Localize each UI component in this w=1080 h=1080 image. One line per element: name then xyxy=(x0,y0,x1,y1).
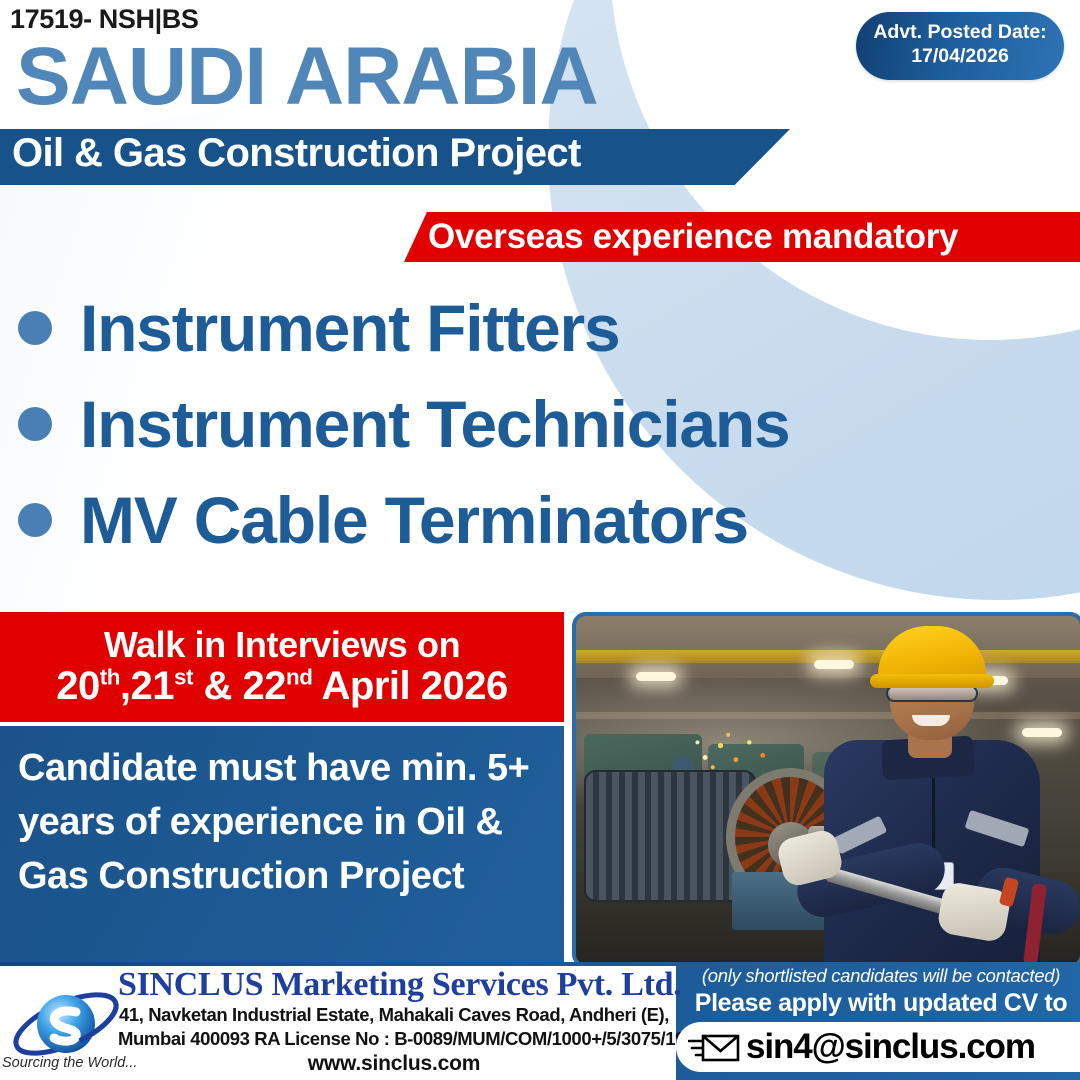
walkin-day-1-suffix: th xyxy=(100,665,120,690)
worker-photo xyxy=(572,612,1080,968)
walkin-dates: 20th,21st & 22nd April 2026 xyxy=(56,665,508,708)
country-title: SAUDI ARABIA xyxy=(16,36,598,118)
overseas-banner-text: Overseas experience mandatory xyxy=(428,215,958,259)
posted-date-label: Advt. Posted Date: xyxy=(862,21,1058,45)
reference-code: 17519- NSH|BS xyxy=(10,4,198,35)
company-website[interactable]: www.sinclus.com xyxy=(118,1051,670,1076)
list-item: Instrument Technicians xyxy=(0,376,1080,472)
posted-date-value: 17/04/2026 xyxy=(862,45,1058,69)
email-pill[interactable]: sin4@sinclus.com xyxy=(676,1022,1080,1072)
experience-requirement-text: Candidate must have min. 5+ years of exp… xyxy=(18,742,546,904)
job-title: MV Cable Terminators xyxy=(80,487,748,553)
contact-email[interactable]: sin4@sinclus.com xyxy=(746,1027,1035,1067)
walkin-day-3: 22 xyxy=(243,664,287,708)
walkin-separator-1: , xyxy=(120,664,131,708)
hard-hat-brim xyxy=(870,674,994,688)
envelope-icon xyxy=(688,1030,740,1064)
walkin-heading: Walk in Interviews on xyxy=(104,626,460,665)
company-address-line-2: Mumbai 400093 RA License No : B-0089/MUM… xyxy=(118,1027,670,1051)
walkin-day-2: 21 xyxy=(131,664,175,708)
posted-date-badge: Advt. Posted Date: 17/04/2026 xyxy=(856,12,1064,80)
list-item: MV Cable Terminators xyxy=(0,472,1080,568)
job-title: Instrument Technicians xyxy=(80,391,790,457)
walkin-month-year: April 2026 xyxy=(312,664,507,708)
apply-cta-text: Please apply with updated CV to xyxy=(682,988,1080,1018)
walkin-day-1: 20 xyxy=(56,664,100,708)
worker-photo-illustration xyxy=(576,616,1080,964)
apply-instructions: (only shortlisted candidates will be con… xyxy=(682,964,1080,1018)
bullet-icon xyxy=(18,503,52,537)
foreground-worker xyxy=(790,616,1080,964)
walkin-day-2-suffix: st xyxy=(174,665,193,690)
walkin-separator-2: & xyxy=(193,664,243,708)
shortlist-note: (only shortlisted candidates will be con… xyxy=(682,964,1080,987)
list-item: Instrument Fitters xyxy=(0,280,1080,376)
bullet-icon xyxy=(18,311,52,345)
company-address-line-1: 41, Navketan Industrial Estate, Mahakali… xyxy=(118,1003,670,1027)
welding-sparks xyxy=(684,724,780,778)
recruitment-poster: 17519- NSH|BS Advt. Posted Date: 17/04/2… xyxy=(0,0,1080,1080)
job-title: Instrument Fitters xyxy=(80,295,619,361)
company-name: SINCLUS Marketing Services Pvt. Ltd. xyxy=(118,967,670,1003)
job-positions-list: Instrument Fitters Instrument Technician… xyxy=(0,280,1080,568)
walkin-interview-box: Walk in Interviews on 20th,21st & 22nd A… xyxy=(0,612,564,722)
bullet-icon xyxy=(18,407,52,441)
company-details: SINCLUS Marketing Services Pvt. Ltd. 41,… xyxy=(118,967,670,1077)
experience-requirement-box: Candidate must have min. 5+ years of exp… xyxy=(0,726,564,962)
logo-tagline: Sourcing the World... xyxy=(2,1055,137,1071)
project-title: Oil & Gas Construction Project xyxy=(12,133,581,173)
walkin-day-3-suffix: nd xyxy=(286,665,312,690)
worker-smile xyxy=(912,715,950,726)
